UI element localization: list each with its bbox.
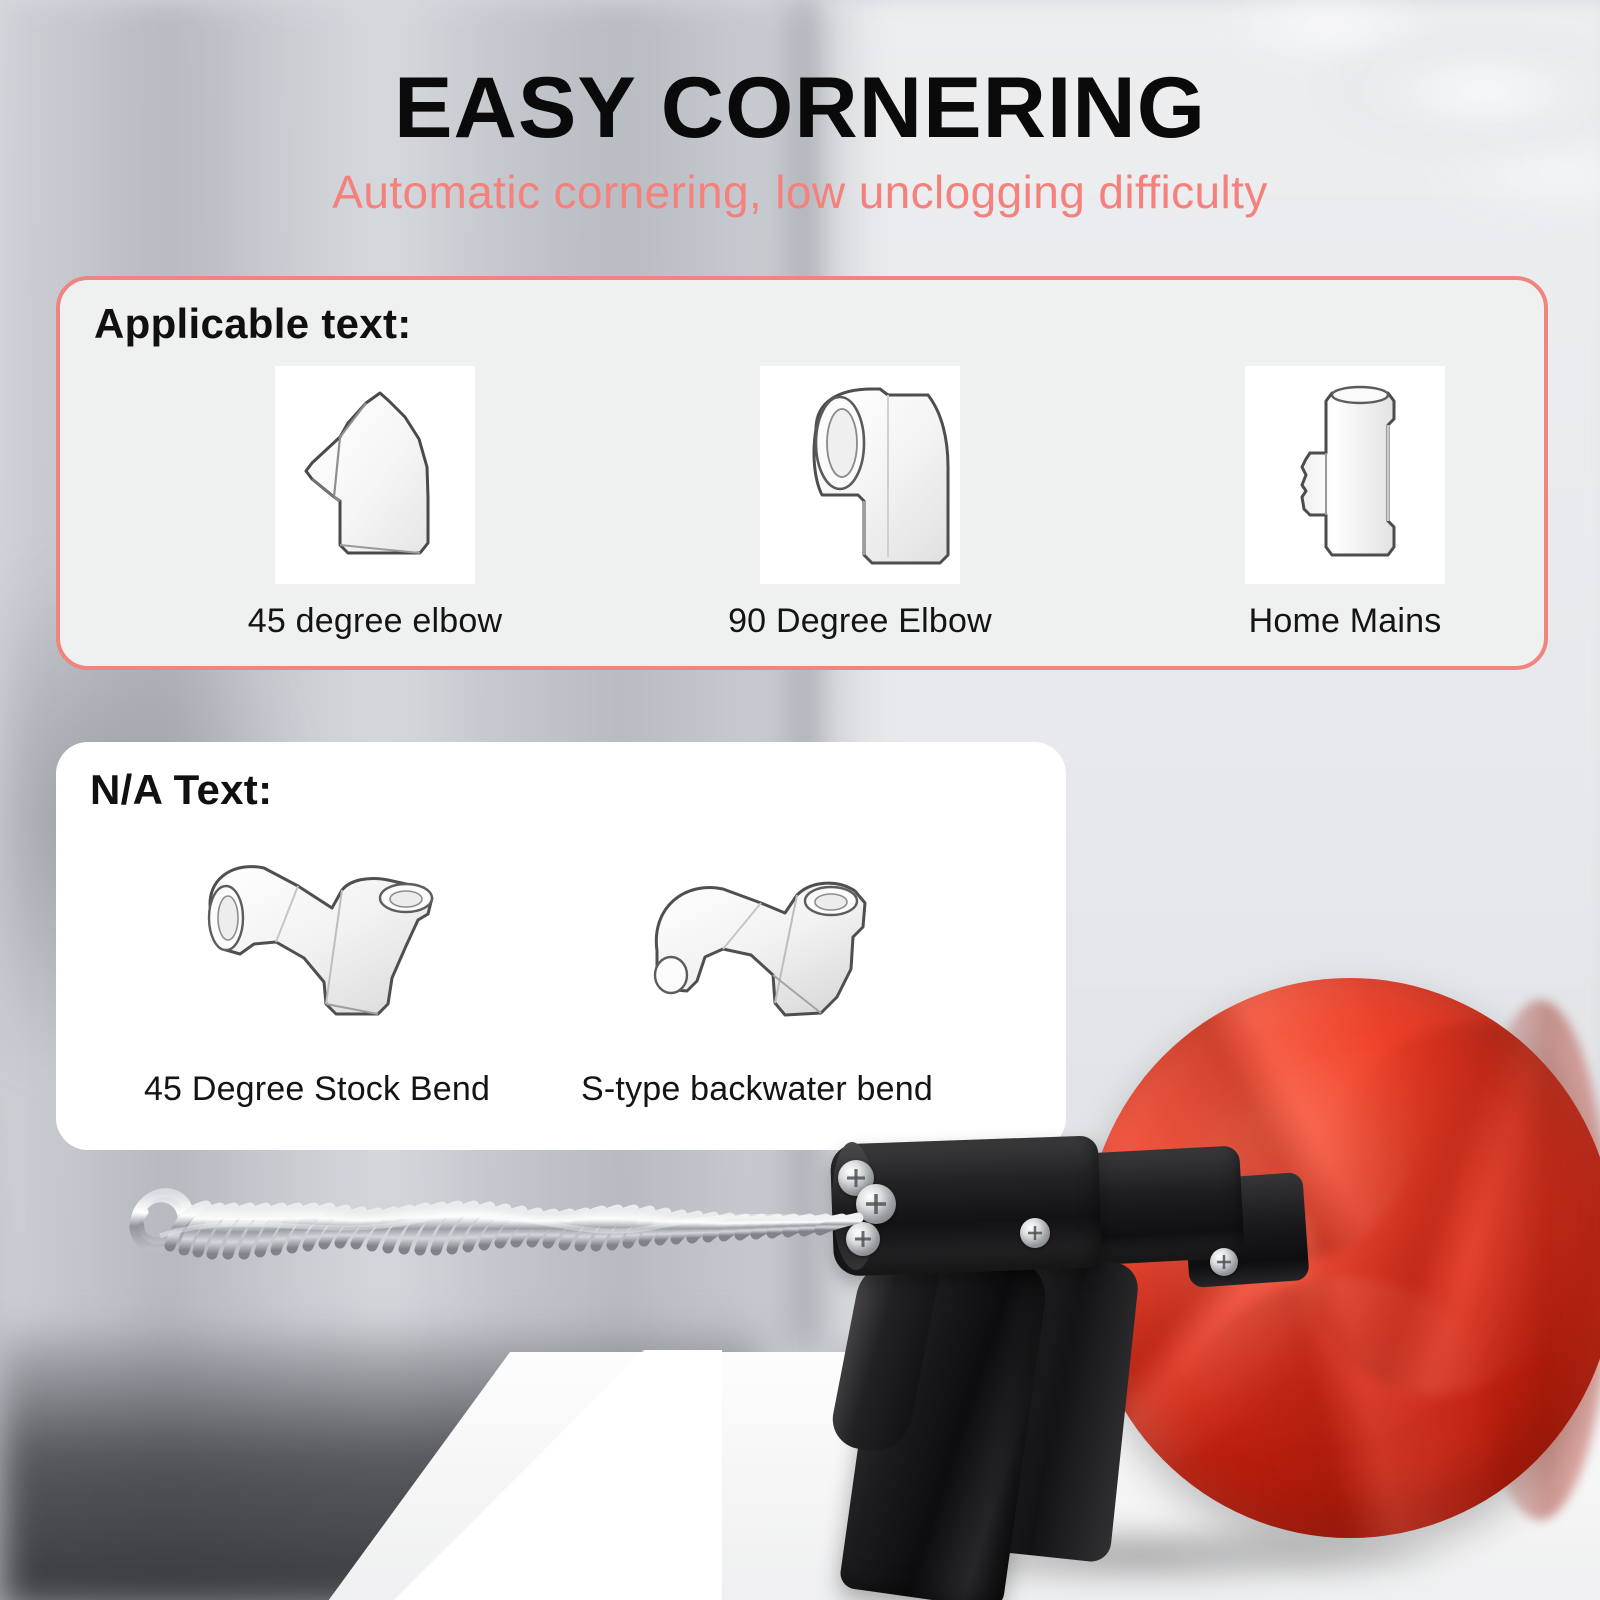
item-label: 45 degree elbow	[248, 602, 502, 641]
pipe-y-branch-icon	[152, 838, 482, 1048]
marketing-image: EASY CORNERING Automatic cornering, low …	[0, 0, 1600, 1600]
pipe-90-elbow-icon	[760, 366, 960, 584]
list-item: 45 degree elbow	[210, 366, 540, 641]
applicable-panel-heading: Applicable text:	[94, 300, 412, 348]
page-subtitle: Automatic cornering, low unclogging diff…	[0, 167, 1600, 218]
pipe-tee-icon	[1245, 366, 1445, 584]
not-applicable-items: 45 Degree Stock Bend	[152, 838, 1002, 1109]
applicable-items: 45 degree elbow	[210, 366, 1510, 641]
applicable-panel: Applicable text:	[56, 276, 1548, 670]
pipe-45-elbow-icon	[275, 366, 475, 584]
not-applicable-panel: N/A Text:	[56, 742, 1066, 1150]
item-label: 45 Degree Stock Bend	[144, 1070, 490, 1109]
not-applicable-panel-heading: N/A Text:	[90, 766, 272, 814]
pipe-s-trap-icon	[592, 838, 922, 1048]
list-item: 45 Degree Stock Bend	[152, 838, 482, 1109]
list-item: S-type backwater bend	[592, 838, 922, 1109]
page-title: EASY CORNERING	[0, 64, 1600, 153]
list-item: Home Mains	[1180, 366, 1510, 641]
item-label: 90 Degree Elbow	[728, 602, 992, 641]
list-item: 90 Degree Elbow	[695, 366, 1025, 641]
item-label: S-type backwater bend	[581, 1070, 933, 1109]
white-table-surface	[320, 1352, 1600, 1600]
item-label: Home Mains	[1249, 602, 1442, 641]
heading-block: EASY CORNERING Automatic cornering, low …	[0, 64, 1600, 218]
